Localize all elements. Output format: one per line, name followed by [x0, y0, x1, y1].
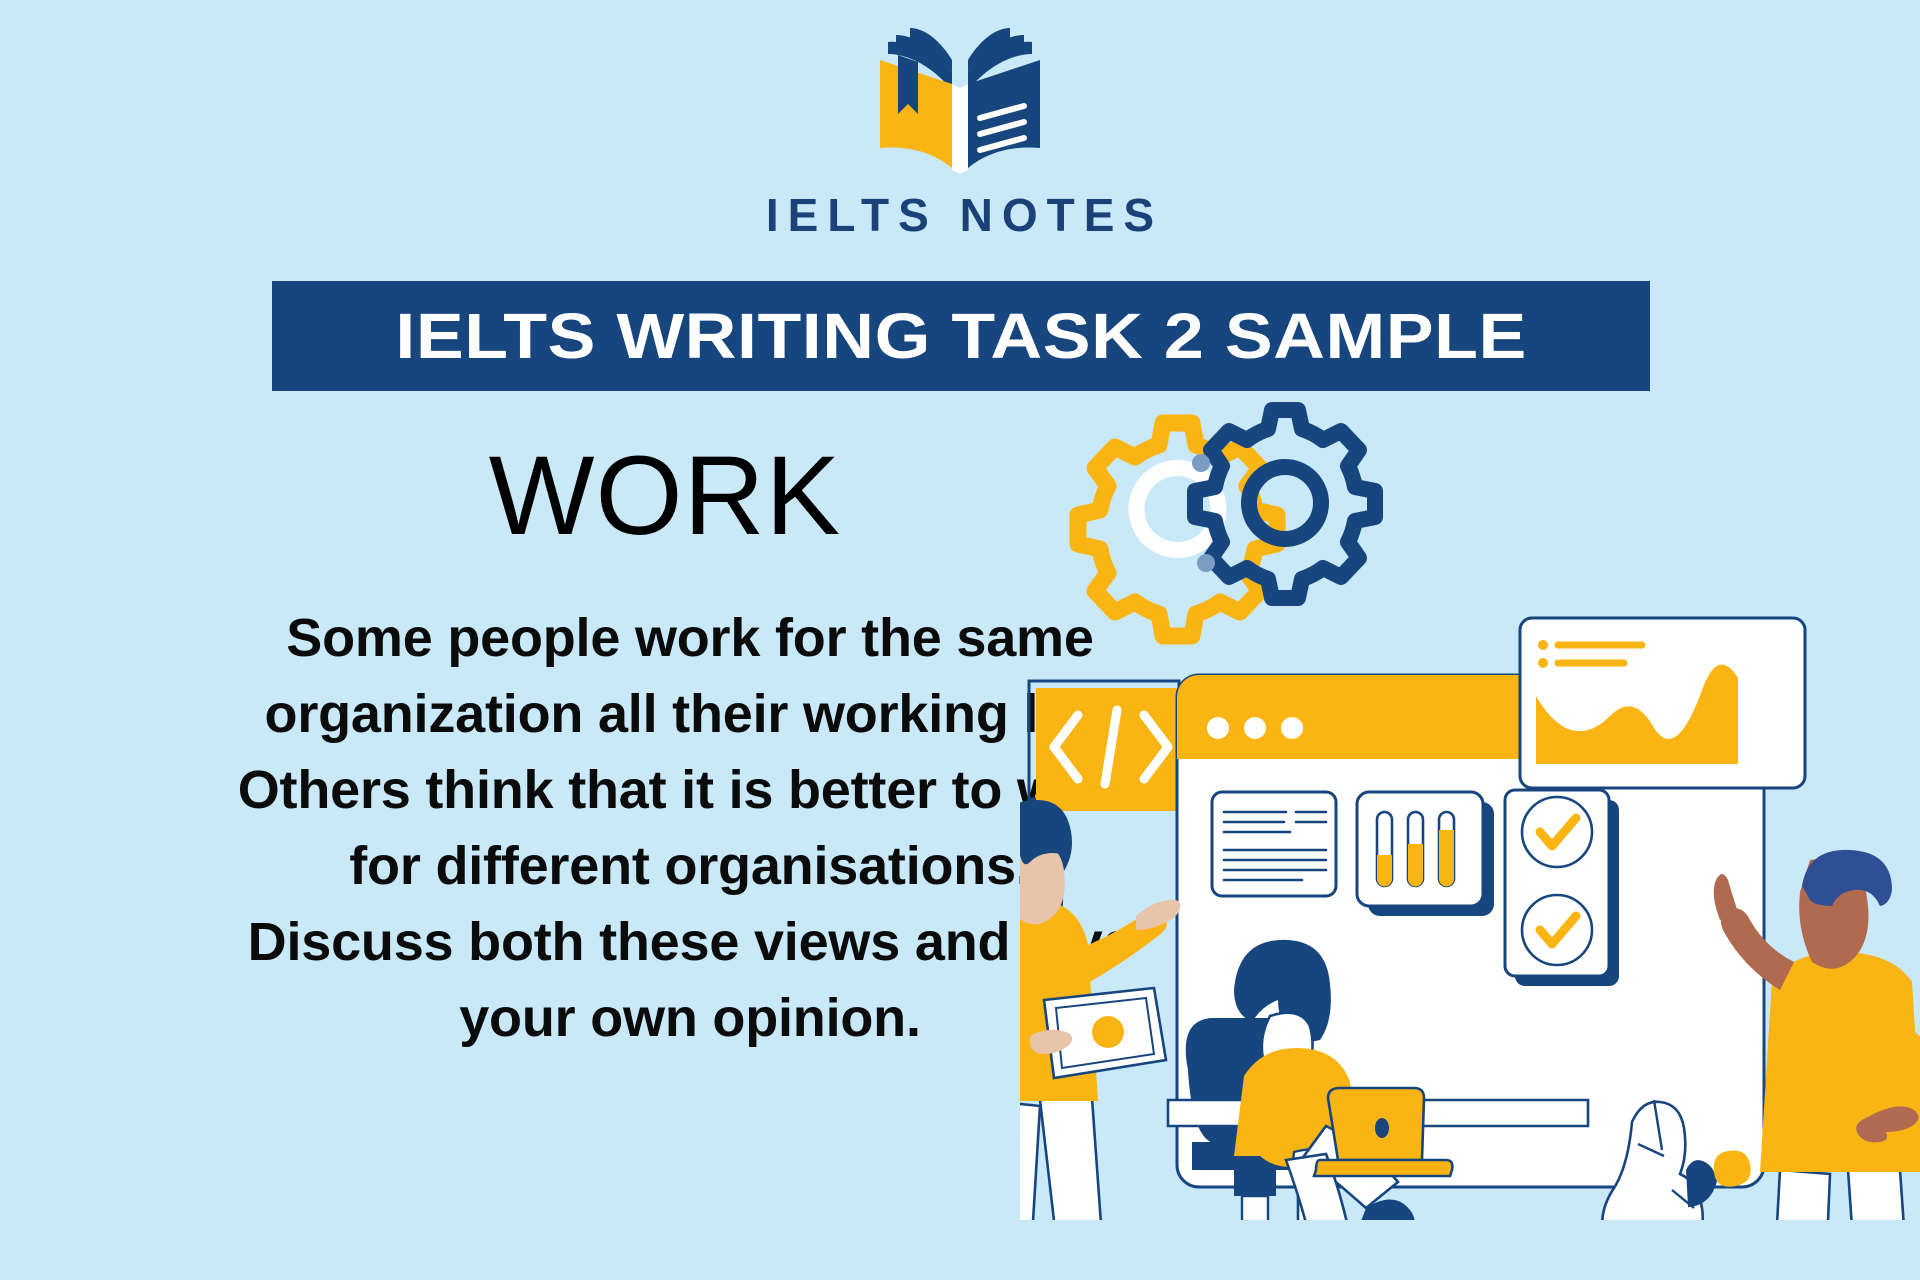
brand-name: IELTS NOTES — [757, 188, 1163, 242]
area-chart-card — [1520, 618, 1805, 788]
poster-canvas: IELTS NOTES IELTS WRITING TASK 2 SAMPLE … — [0, 0, 1920, 1280]
code-badge-icon — [1029, 681, 1192, 811]
woman-standing-with-tablet — [1020, 800, 1180, 1220]
banner: IELTS WRITING TASK 2 SAMPLE — [272, 281, 1650, 391]
banner-label: IELTS WRITING TASK 2 SAMPLE — [395, 299, 1526, 373]
open-book-icon — [852, 22, 1068, 174]
team-analytics-dashboard-illustration — [1020, 400, 1920, 1220]
bar-gauges-card — [1357, 792, 1494, 916]
yellow-gear-icon — [1078, 423, 1277, 636]
checklist-card — [1505, 790, 1619, 986]
brand-logo: IELTS NOTES — [0, 22, 1920, 242]
text-block-card — [1212, 792, 1336, 896]
